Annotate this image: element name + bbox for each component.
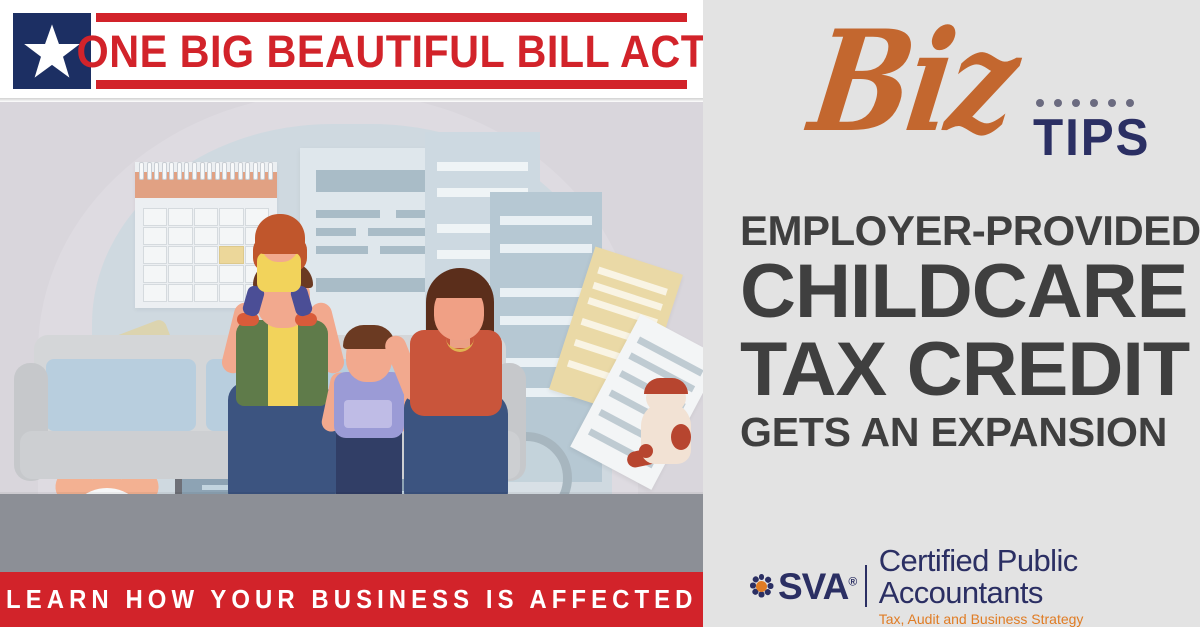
stripe-top: [96, 13, 687, 22]
hero-illustration: TAX: [0, 102, 703, 572]
headline-line-1: EMPLOYER-PROVIDED: [740, 210, 1170, 252]
cat-illustration: [635, 378, 697, 464]
sva-tagline: Tax, Audit and Business Strategy: [879, 611, 1168, 627]
biztips-logo: Biz TIPS: [823, 12, 1183, 177]
act-banner: ONE BIG BEAUTIFUL BILL ACT: [0, 0, 703, 102]
promotional-graphic: ONE BIG BEAUTIFUL BILL ACT: [0, 0, 1200, 627]
left-image-panel: ONE BIG BEAUTIFUL BILL ACT: [0, 0, 703, 627]
cta-text: LEARN HOW YOUR BUSINESS IS AFFECTED: [6, 584, 697, 615]
act-title: ONE BIG BEAUTIFUL BILL ACT: [120, 22, 664, 80]
mother-figure: [398, 289, 518, 524]
headline-line-4: GETS AN EXPANSION: [740, 412, 1170, 453]
headline-line-3: TAX CREDIT: [740, 332, 1179, 408]
sva-title: Certified Public Accountants: [879, 545, 1168, 610]
stripe-bottom: [96, 80, 687, 89]
headline: EMPLOYER-PROVIDED CHILDCARE TAX CREDIT G…: [740, 210, 1170, 453]
daughter-figure: [235, 206, 323, 292]
cta-banner[interactable]: LEARN HOW YOUR BUSINESS IS AFFECTED: [0, 572, 703, 627]
headline-line-2: CHILDCARE: [740, 254, 1179, 330]
sva-logo: SVA® Certified Public Accountants Tax, A…: [748, 562, 1168, 610]
tips-wordmark: TIPS: [1033, 112, 1150, 164]
logo-divider: [865, 565, 867, 607]
right-content-panel: Biz TIPS EMPLOYER-PROVIDED CHILDCARE TAX…: [703, 0, 1200, 627]
act-banner-stripes: ONE BIG BEAUTIFUL BILL ACT: [96, 13, 687, 89]
sva-name: SVA: [778, 566, 848, 607]
sva-flower-icon: [748, 573, 775, 600]
floor: [0, 494, 703, 572]
family-illustration: [180, 224, 520, 524]
biz-wordmark: Biz: [803, 12, 1022, 151]
sva-text-block: Certified Public Accountants Tax, Audit …: [879, 545, 1168, 627]
tips-dots-decoration: [1036, 99, 1134, 107]
sva-wordmark: SVA®: [778, 568, 856, 605]
registered-mark: ®: [848, 574, 856, 588]
